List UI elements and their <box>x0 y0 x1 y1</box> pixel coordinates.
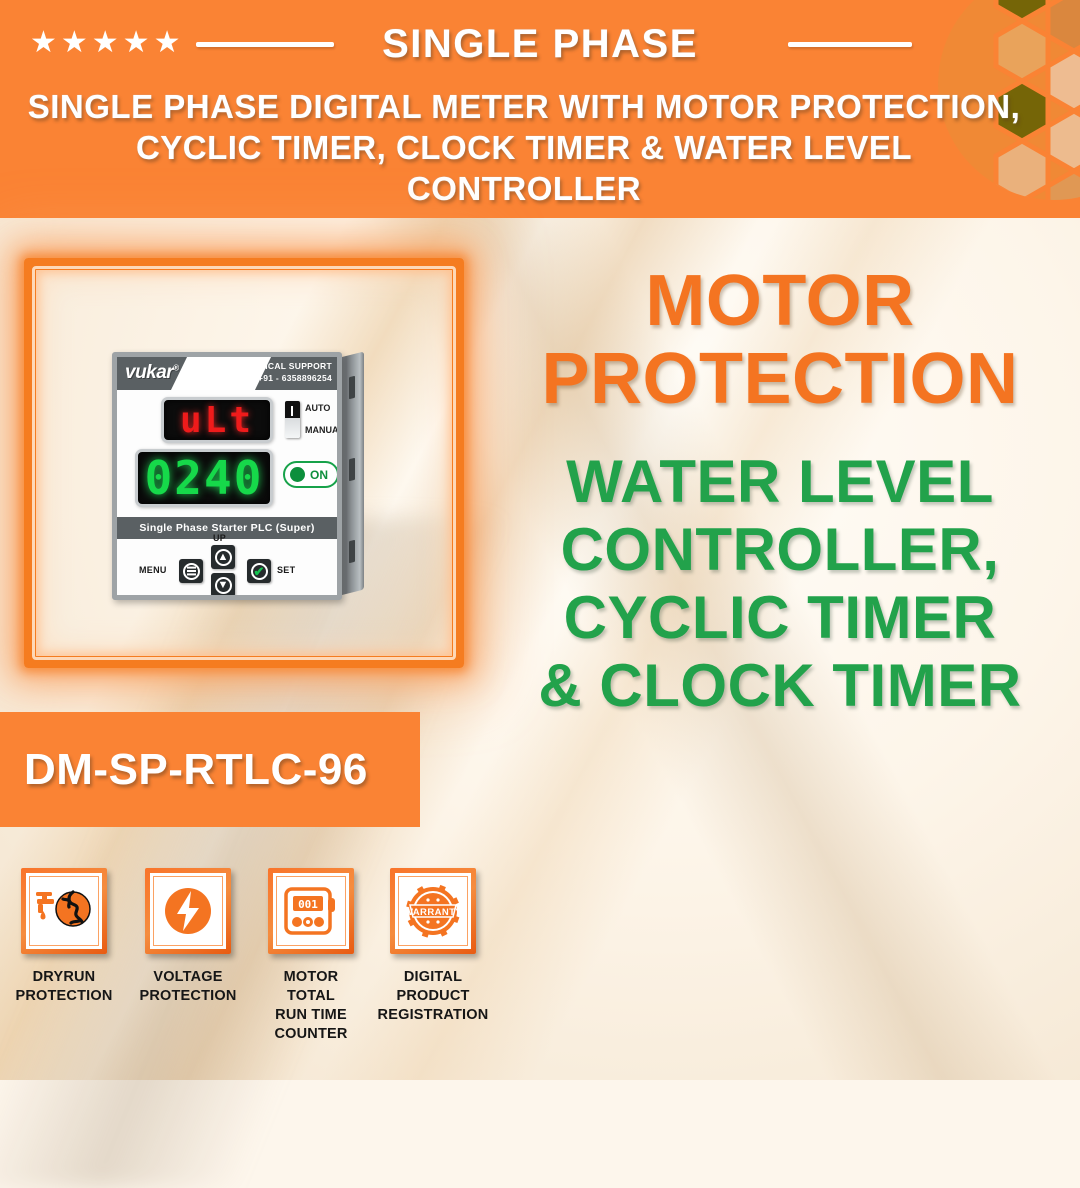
feature-item: DRYRUNPROTECTION <box>10 862 118 1006</box>
headline-green: WATER LEVEL CONTROLLER, CYCLIC TIMER & C… <box>492 448 1068 720</box>
model-number: DM-SP-RTLC-96 <box>0 745 368 795</box>
set-button-label: SET <box>277 565 295 575</box>
tech-support-phone: +91 - 6358896254 <box>234 372 332 384</box>
header-subtitle: SINGLE PHASE DIGITAL METER WITH MOTOR PR… <box>24 86 1024 209</box>
device-keypad: ▲ ▼ ✔ MENU UP DOWN SET <box>117 541 337 600</box>
feature-label: DRYRUNPROTECTION <box>10 968 118 1006</box>
secondary-display-value: 0240 <box>145 451 264 505</box>
primary-display-value: uLt <box>180 400 254 441</box>
tech-support-label: TECHNICAL SUPPORT <box>234 360 332 372</box>
tech-support-block: TECHNICAL SUPPORT +91 - 6358896254 <box>234 360 332 384</box>
header-banner: ★★★★★ SINGLE PHASE SINGLE PHASE DIGITAL … <box>0 0 1080 218</box>
side-notch <box>349 540 355 563</box>
feature-icon-frame <box>145 868 231 954</box>
feature-icons-row: DRYRUNPROTECTION VOLTAGEPROTECTION 001 <box>0 862 540 1080</box>
headline-green-line-4: & CLOCK TIMER <box>492 652 1068 720</box>
headline-green-line-2: CONTROLLER, <box>492 516 1068 584</box>
headline-block: MOTOR PROTECTION WATER LEVEL CONTROLLER,… <box>492 262 1068 720</box>
feature-icon-frame: 001 <box>268 868 354 954</box>
headline-orange-line-2: PROTECTION <box>492 340 1068 418</box>
set-button[interactable]: ✔ <box>247 559 271 583</box>
secondary-display: 0240 <box>135 449 273 507</box>
tap-globe-icon <box>26 873 102 949</box>
headline-orange: MOTOR PROTECTION <box>492 262 1068 418</box>
model-number-banner: DM-SP-RTLC-96 <box>0 712 420 827</box>
svg-text:WARRANTY: WARRANTY <box>404 907 462 918</box>
registered-mark: ® <box>173 364 178 373</box>
lightning-bolt-icon <box>150 873 226 949</box>
headline-green-line-3: CYCLIC TIMER <box>492 584 1068 652</box>
primary-display: uLt <box>161 397 273 443</box>
headline-green-line-1: WATER LEVEL <box>492 448 1068 516</box>
menu-icon <box>183 563 200 580</box>
menu-button[interactable] <box>179 559 203 583</box>
side-notch <box>349 376 355 399</box>
product-device-image: vukar® TECHNICAL SUPPORT +91 - 635889625… <box>112 352 364 600</box>
feature-label: MOTORTOTALRUN TIMECOUNTER <box>258 968 364 1044</box>
svg-text:001: 001 <box>298 898 318 911</box>
feature-icon-frame: WARRANTY <box>390 868 476 954</box>
feature-icon-frame <box>21 868 107 954</box>
run-time-counter-icon: 001 <box>273 873 349 949</box>
feature-item: 001 MOTORTOTALRUN TIMECOUNTER <box>258 862 364 1044</box>
header-eyebrow-row: ★★★★★ SINGLE PHASE <box>0 22 1080 68</box>
feature-label: VOLTAGEPROTECTION <box>132 968 244 1006</box>
chevron-down-icon: ▼ <box>215 577 232 594</box>
headline-orange-line-1: MOTOR <box>492 262 1068 340</box>
down-button[interactable]: ▼ <box>211 573 235 597</box>
manual-mode-label: MANUAL <box>305 425 342 435</box>
auto-mode-label: AUTO <box>305 403 330 413</box>
menu-button-label: MENU <box>139 565 167 575</box>
divider-line-right <box>788 42 912 47</box>
warranty-seal-icon: WARRANTY <box>395 873 471 949</box>
chevron-up-icon: ▲ <box>215 549 232 566</box>
feature-item: VOLTAGEPROTECTION <box>132 862 244 1006</box>
brand-name: vukar <box>125 362 173 383</box>
device-model-strip: Single Phase Starter PLC (Super) <box>117 517 337 539</box>
up-button[interactable]: ▲ <box>211 545 235 569</box>
check-icon: ✔ <box>251 563 268 580</box>
status-indicator: ON <box>283 461 339 488</box>
up-button-label: UP <box>213 533 226 543</box>
brand-logo: vukar® <box>125 362 179 384</box>
side-notch <box>349 458 355 481</box>
status-label: ON <box>310 468 328 482</box>
feature-label: DIGITALPRODUCTREGISTRATION <box>374 968 492 1025</box>
auto-manual-toggle[interactable] <box>285 401 300 438</box>
status-led-icon <box>290 467 305 482</box>
device-front-panel: vukar® TECHNICAL SUPPORT +91 - 635889625… <box>112 352 342 600</box>
feature-item: WARRANTY DIGITALPRODUCTREGISTRATION <box>374 862 492 1025</box>
header-eyebrow-title: SINGLE PHASE <box>0 22 1080 67</box>
down-button-label: DOWN <box>207 599 237 600</box>
